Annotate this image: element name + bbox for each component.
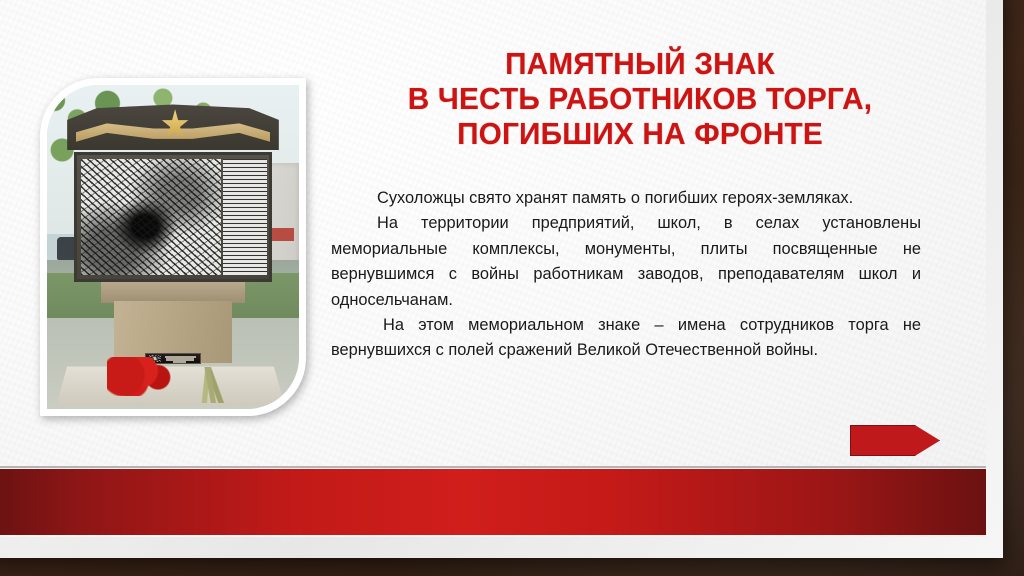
band-top-hairline [0,466,986,468]
screenshot-stage: ПАМЯТНЫЙ ЗНАК В ЧЕСТЬ РАБОТНИКОВ ТОРГА, … [0,0,1024,576]
body-paragraph-1: Сухоложцы свято хранят память о погибших… [331,186,921,211]
engraved-plaque [74,152,273,281]
body-paragraph-2: На территории предприятий, школ, в селах… [331,211,921,313]
battle-relief-engraving [81,159,220,276]
body-paragraph-3: На этом мемориальном знаке – имена сотру… [331,313,921,364]
memorial-monument [67,104,279,344]
memorial-photo-frame[interactable] [40,78,306,416]
title-line-3: ПОГИБШИХ НА ФРОНТЕ [342,116,937,151]
slide-title: ПАМЯТНЫЙ ЗНАК В ЧЕСТЬ РАБОТНИКОВ ТОРГА, … [342,46,937,151]
monument-pillar [114,301,233,363]
title-line-1: ПАМЯТНЫЙ ЗНАК [342,46,937,81]
slide-body-text: Сухоложцы свято хранят память о погибших… [331,186,921,364]
memorial-photo [47,85,299,409]
plaque-inscription-column [223,159,267,276]
flower-stems [163,367,264,403]
footer-red-band [0,469,986,535]
title-line-2: В ЧЕСТЬ РАБОТНИКОВ ТОРГА, [342,81,937,116]
presentation-slide: ПАМЯТНЫЙ ЗНАК В ЧЕСТЬ РАБОТНИКОВ ТОРГА, … [0,0,986,537]
